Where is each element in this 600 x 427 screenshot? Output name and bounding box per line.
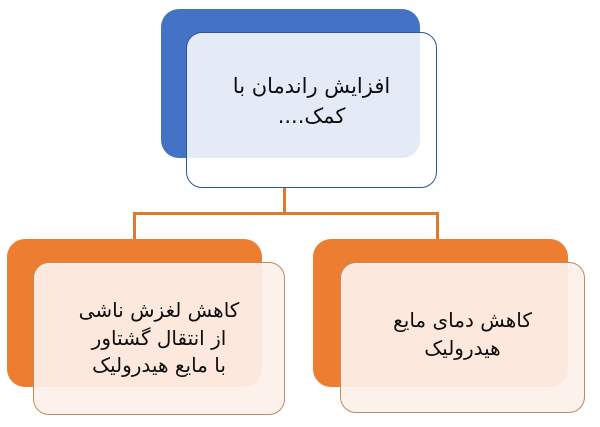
- connector-horizontal-bar: [133, 212, 439, 215]
- child-right-node-label: کاهش دمای مایع هیدرولیک: [393, 307, 532, 368]
- root-node-card[interactable]: افزایش راندمان با کمک....: [186, 32, 437, 188]
- connector-drop-left: [133, 212, 136, 240]
- connector-drop-right: [436, 212, 439, 240]
- child-left-node-label: کاهش لغزش ناشی از انتقال گشتاور با مایع …: [79, 297, 240, 380]
- child-right-node-card[interactable]: کاهش دمای مایع هیدرولیک: [340, 262, 585, 413]
- diagram-canvas: افزایش راندمان با کمک.... کاهش لغزش ناشی…: [0, 0, 600, 427]
- root-node-label: افزایش راندمان با کمک....: [233, 72, 390, 148]
- child-left-node-card[interactable]: کاهش لغزش ناشی از انتقال گشتاور با مایع …: [33, 262, 285, 415]
- connector-stem: [283, 188, 286, 215]
